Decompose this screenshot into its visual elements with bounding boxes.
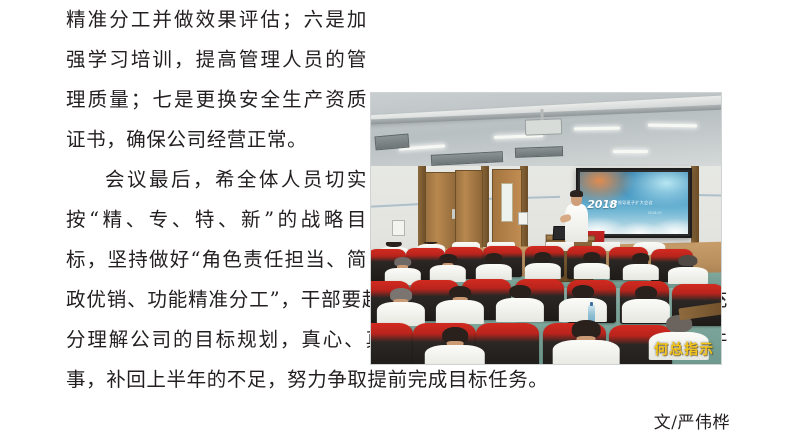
person-head <box>572 285 594 298</box>
audience-person <box>574 252 609 279</box>
presenter-hair <box>570 190 583 197</box>
person-head <box>509 285 531 298</box>
person-shirt <box>425 345 485 364</box>
audience-person <box>560 285 606 322</box>
wall-sign <box>518 212 528 225</box>
audience-person <box>476 253 511 280</box>
door-glass-panel <box>501 183 513 222</box>
auditorium-chair <box>371 323 413 364</box>
ceiling-projector <box>525 118 563 135</box>
screen-subtitle-text: 2018.07 <box>648 211 662 215</box>
person-shirt <box>553 340 620 364</box>
presenter-body <box>565 204 588 242</box>
document-page: 精准分工并做效果评估；六是加强学习培训，提高管理人员的管理质量；七是更换安全生产… <box>0 0 800 443</box>
byline: 文/严伟桦 <box>654 408 730 433</box>
projection-screen: 2018 公司领导班子扩大会议 2018.07 <box>576 168 692 238</box>
person-shirt <box>622 264 658 281</box>
air-vent <box>514 146 562 158</box>
person-head <box>583 252 601 262</box>
person-head <box>485 253 503 263</box>
person-shirt <box>559 298 607 322</box>
audience-person <box>497 285 543 322</box>
ceiling-light <box>574 126 620 130</box>
audience-person <box>378 288 424 325</box>
audience-person <box>557 320 617 364</box>
audience-person <box>385 257 420 284</box>
person-shirt <box>496 298 544 322</box>
auditorium-chair <box>476 323 539 364</box>
person-head <box>635 286 657 299</box>
wooden-door <box>492 169 522 252</box>
person-shirt <box>524 263 560 280</box>
ceiling-light <box>613 150 648 153</box>
person-head <box>632 253 650 263</box>
air-vent <box>374 134 409 151</box>
photo-scene: 2018 公司领导班子扩大会议 2018.07 <box>371 93 721 364</box>
audience-person <box>623 253 658 280</box>
wall-sign <box>392 220 405 236</box>
person-head <box>678 255 697 266</box>
person-shirt <box>668 267 708 284</box>
audience-person <box>525 252 560 279</box>
audience-person <box>438 286 484 323</box>
audience-person <box>427 327 483 364</box>
person-shirt <box>573 263 609 280</box>
person-head <box>534 252 552 262</box>
photo-caption: 何总指示 <box>654 339 714 359</box>
screen-title-text: 公司领导班子扩大会议 <box>609 200 653 205</box>
audience-person <box>431 254 466 281</box>
meeting-photo: 2018 公司领导班子扩大会议 2018.07 <box>370 92 722 365</box>
person-shirt <box>475 264 511 281</box>
audience-person <box>669 255 708 283</box>
person-shirt <box>436 300 484 324</box>
projection-screen-image: 2018 公司领导班子扩大会议 2018.07 <box>580 172 688 234</box>
